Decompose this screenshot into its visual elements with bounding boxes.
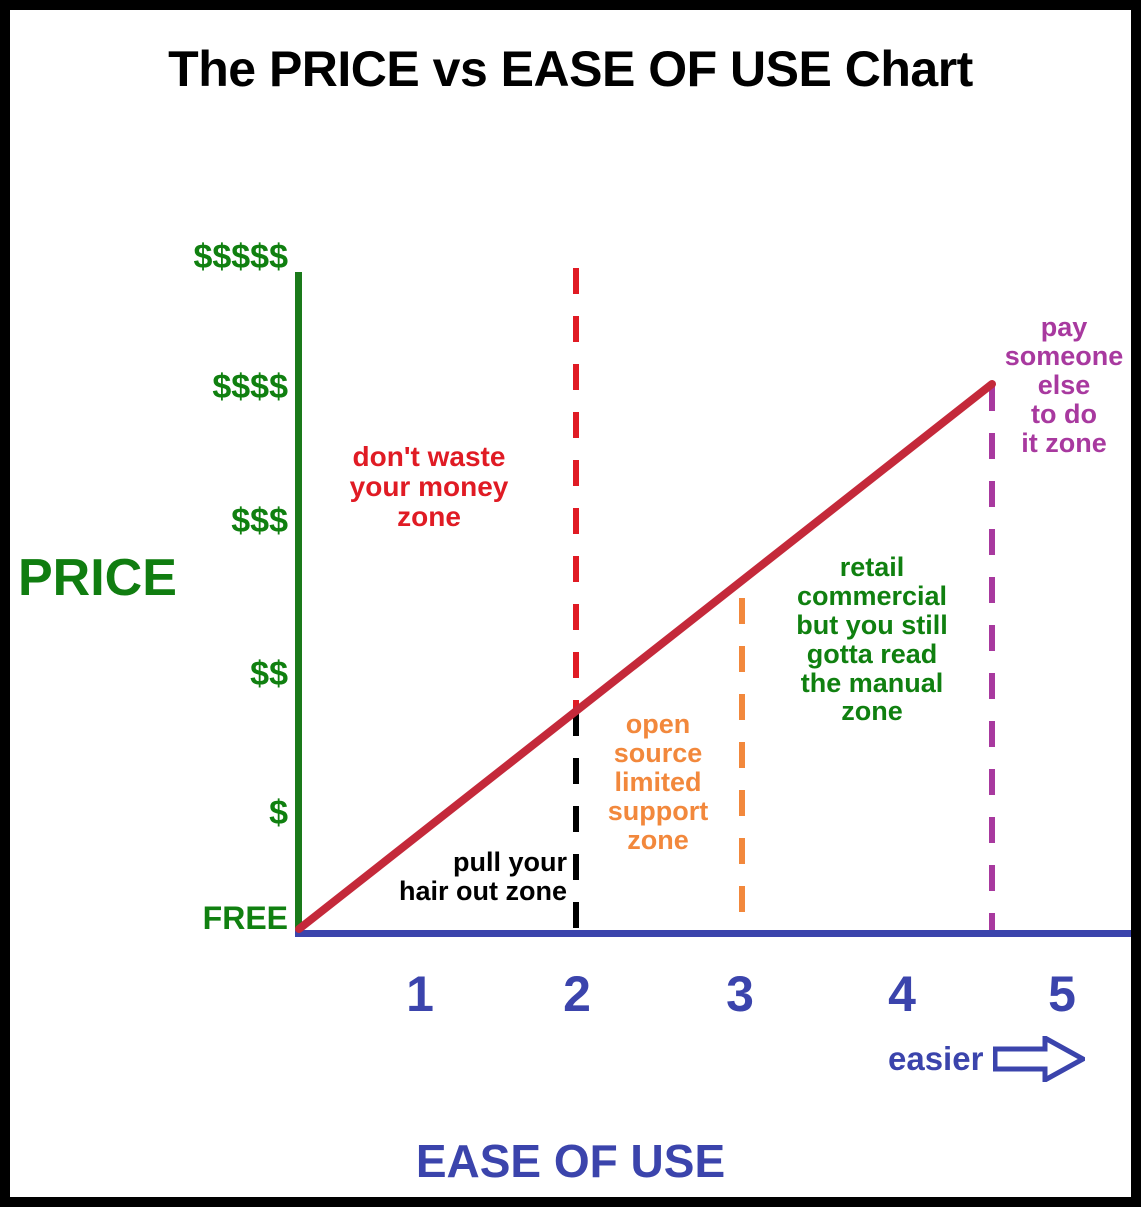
x-tick-label-2: 2 — [537, 965, 617, 1023]
x-tick-label-4: 4 — [862, 965, 942, 1023]
annotation-pull-your-hair-out-zone: pull your hair out zone — [355, 848, 567, 906]
y-tick-label-3: $$$ — [10, 502, 288, 541]
annotation-retail-commercial-zone: retail commercial but you still gotta re… — [762, 553, 982, 726]
y-axis-line — [295, 272, 302, 934]
right-arrow-icon — [993, 1036, 1085, 1082]
x-axis-line — [295, 930, 1133, 937]
y-tick-1: $ — [10, 794, 288, 833]
y-tick-2: $$ — [10, 655, 288, 694]
annotation-open-source-limited-support-zone: open source limited support zone — [588, 710, 728, 854]
x-tick-label-1: 1 — [380, 965, 460, 1023]
y-tick-0: FREE — [10, 900, 288, 937]
x-axis-title: EASE OF USE — [10, 1134, 1131, 1188]
y-tick-3: $$$ — [10, 502, 288, 541]
easier-label: easier — [888, 1040, 983, 1078]
y-axis-title: PRICE — [18, 548, 177, 608]
y-tick-5: $$$$$ — [10, 238, 288, 277]
y-tick-4: $$$$ — [10, 368, 288, 407]
x-tick-label-3: 3 — [700, 965, 780, 1023]
y-tick-label-1: $ — [10, 794, 288, 833]
annotation-dont-waste-your-money-zone: don't waste your money zone — [315, 442, 543, 532]
page-title: The PRICE vs EASE OF USE Chart — [10, 40, 1131, 98]
easier-direction-note: easier — [888, 1036, 1085, 1082]
annotation-pay-someone-else-zone: pay someone else to do it zone — [998, 313, 1130, 457]
y-tick-label-0: FREE — [10, 900, 288, 937]
x-tick-label-5: 5 — [1022, 965, 1102, 1023]
y-tick-label-2: $$ — [10, 655, 288, 694]
chart-canvas: The PRICE vs EASE OF USE Chart $$$$$ $$$… — [0, 0, 1141, 1207]
y-tick-label-5: $$$$$ — [10, 238, 288, 277]
y-tick-label-4: $$$$ — [10, 368, 288, 407]
